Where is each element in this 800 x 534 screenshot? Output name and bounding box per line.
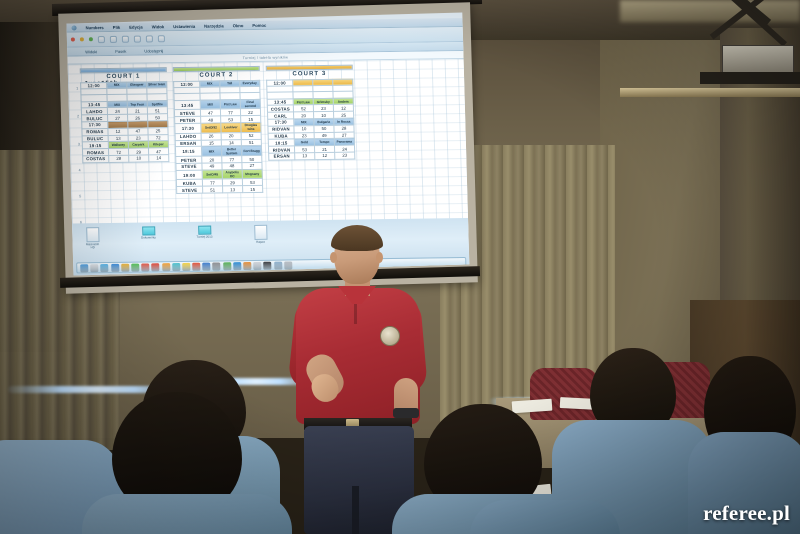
safari-icon[interactable]: [101, 263, 109, 271]
menu-item-4[interactable]: Ustawienia: [173, 23, 195, 28]
row-header-3: 3: [72, 142, 80, 146]
category-cell[interactable]: SetO/45: [202, 170, 222, 180]
row-header-5: 5: [73, 194, 81, 198]
category-cell[interactable]: Final second: [240, 99, 260, 109]
row-header-1: 1: [70, 86, 78, 90]
category-cell[interactable]: MIX: [200, 100, 220, 110]
category-cell[interactable]: Better System: [221, 146, 241, 156]
toolbar-button-view[interactable]: [98, 36, 105, 43]
time-cell[interactable]: 18:15: [175, 147, 201, 157]
calendar-icon[interactable]: [151, 263, 159, 271]
attendee-bottom-right-body: [470, 500, 620, 534]
time-cell[interactable]: 13:45: [174, 100, 200, 110]
projector-body: [722, 45, 794, 75]
presenter-wristwatch: [393, 408, 419, 418]
finder-icon[interactable]: [80, 264, 88, 272]
menu-item-0[interactable]: Numbers: [85, 25, 103, 30]
score-cell[interactable]: 10: [129, 155, 149, 162]
projector-base: [700, 72, 800, 84]
desktop-icon-label: Dokumenty: [140, 236, 156, 239]
menu-item-1[interactable]: Plik: [113, 24, 121, 29]
court-block-2: COURT 212:00MIXTallEveryday13:45MIXPict …: [173, 66, 264, 194]
time-cell[interactable]: 17:30: [175, 123, 201, 133]
presentation-photo: Numbers Plik Edycja Widok Ustawienia Nar…: [0, 0, 800, 534]
numbers-icon[interactable]: [223, 262, 231, 270]
presenter-leg-gap: [352, 486, 359, 534]
category-cell[interactable]: SetO/92: [201, 123, 221, 133]
menu-item-3[interactable]: Widok: [152, 24, 165, 29]
player-name-cell[interactable]: STEVE: [177, 186, 203, 193]
launchpad-icon[interactable]: [90, 264, 98, 272]
mail-icon[interactable]: [111, 263, 119, 271]
preferences-icon[interactable]: [213, 262, 221, 270]
category-cell[interactable]: Douglas wins: [241, 122, 261, 132]
score-cell[interactable]: 51: [203, 186, 223, 193]
photos-icon[interactable]: [121, 263, 129, 271]
preview-icon[interactable]: [253, 261, 261, 269]
toolbar-button-table[interactable]: [134, 35, 141, 42]
toolbar-button-share[interactable]: [158, 35, 165, 42]
score-cell[interactable]: 13: [223, 186, 243, 193]
toolbar-button-insert[interactable]: [122, 35, 129, 42]
court-title-1: COURT 1: [80, 73, 167, 80]
court-table-3[interactable]: 12:0013:45Pict LawGrimsbyAndersCOSTAS522…: [266, 78, 355, 160]
ribbon-tab-0[interactable]: Widoki: [85, 49, 97, 54]
presenter-ear-right: [376, 252, 383, 263]
keynote-icon[interactable]: [233, 262, 241, 270]
court-table-1[interactable]: 12:00MIXGlasgowSilver team13:45MIXTop Fo…: [80, 81, 169, 163]
court-title-2: COURT 2: [173, 72, 260, 79]
document-icon: [86, 227, 99, 242]
category-cell[interactable]: Mogoany: [242, 169, 262, 179]
court-table-2[interactable]: 12:00MIXTallEveryday13:45MIXPict LawFina…: [173, 79, 263, 194]
desktop-icon-2[interactable]: Turniej 2013: [196, 226, 213, 249]
apple-menu-icon[interactable]: [71, 25, 76, 30]
toolbar-button-chart[interactable]: [146, 35, 153, 42]
score-cell[interactable]: 14: [149, 155, 169, 162]
desktop-icon-label: Macintosh HD: [85, 243, 101, 250]
ribbon-tab-2[interactable]: Udostępnij: [144, 48, 163, 53]
player-name-cell[interactable]: COSTAS: [83, 155, 109, 162]
attendee-front-left-body: [82, 494, 292, 534]
presenter-ear-left: [330, 252, 337, 263]
appstore-icon[interactable]: [202, 262, 210, 270]
desktop-icon-3[interactable]: Raport: [252, 225, 269, 248]
court-title-3: COURT 3: [266, 71, 353, 78]
desktop-icon-1[interactable]: Dokumenty: [140, 226, 157, 249]
toolbar-button-zoom[interactable]: [110, 35, 117, 42]
presenter-hair: [331, 225, 383, 251]
category-cell[interactable]: MIX: [201, 146, 221, 156]
notes-icon[interactable]: [182, 262, 190, 270]
score-cell[interactable]: 28: [109, 155, 129, 162]
desktop-icon-label: Raport: [253, 241, 269, 244]
score-cell[interactable]: 12: [315, 152, 335, 159]
music-icon[interactable]: [192, 262, 200, 270]
document-icon: [254, 225, 267, 240]
category-cell[interactable]: Fort Bragg: [241, 146, 261, 156]
chair-left: [530, 368, 598, 420]
court-block-1: COURT 112:00MIXGlasgowSilver team13:45MI…: [80, 67, 171, 195]
presenter: [282, 228, 432, 534]
downloads-icon[interactable]: [274, 261, 282, 269]
reminders-icon[interactable]: [172, 262, 180, 270]
row-header-2: 2: [71, 114, 79, 118]
courts-container: COURT 112:00MIXGlasgowSilver team13:45MI…: [80, 65, 357, 196]
time-cell[interactable]: 19:00: [176, 170, 202, 180]
menu-item-5[interactable]: Narzędzia: [204, 23, 224, 28]
zoom-window-button[interactable]: [89, 37, 93, 41]
player-name-cell[interactable]: ERSAN: [269, 153, 295, 160]
spreadsheet-grid[interactable]: June15th 1 2 3 4 5 6 COURT 112:00MIXGlas…: [68, 59, 469, 242]
ribbon-tab-1[interactable]: Pasek: [115, 48, 126, 53]
score-cell[interactable]: 23: [335, 152, 355, 159]
maps-icon[interactable]: [141, 263, 149, 271]
score-cell[interactable]: 13: [295, 153, 315, 160]
table-row[interactable]: STEVE511315: [177, 186, 263, 194]
watermark: referee.pl: [703, 501, 790, 526]
menu-item-2[interactable]: Edycja: [129, 24, 143, 29]
close-window-button[interactable]: [71, 37, 75, 41]
menu-item-7[interactable]: Pomoc: [252, 22, 266, 27]
desktop-icons[interactable]: Macintosh HDDokumentyTurniej 2013Raport: [84, 225, 269, 250]
category-cell[interactable]: Anypolis OC: [222, 169, 242, 179]
category-cell[interactable]: Pict Law: [220, 99, 240, 109]
pages-icon[interactable]: [243, 261, 251, 269]
terminal-icon[interactable]: [264, 261, 272, 269]
messages-icon[interactable]: [131, 263, 139, 271]
category-cell[interactable]: Lookiver: [221, 123, 241, 133]
desktop-icon-label: Turniej 2013: [196, 236, 212, 239]
wall-shelf: [620, 88, 800, 97]
minimize-window-button[interactable]: [80, 37, 84, 41]
table-row[interactable]: COSTAS281014: [83, 155, 169, 163]
table-row[interactable]: ERSAN131223: [269, 152, 355, 160]
contacts-icon[interactable]: [162, 263, 170, 271]
folder-icon: [142, 226, 155, 235]
presenter-badge: [380, 326, 400, 346]
row-header-4: 4: [72, 168, 80, 172]
menu-item-6[interactable]: Okno: [233, 23, 244, 28]
folder-icon: [198, 226, 211, 235]
score-cell[interactable]: 15: [243, 186, 263, 193]
desktop-icon-0[interactable]: Macintosh HD: [84, 227, 101, 250]
court-block-3: COURT 312:0013:45Pict LawGrimsbyAndersCO…: [266, 65, 357, 193]
